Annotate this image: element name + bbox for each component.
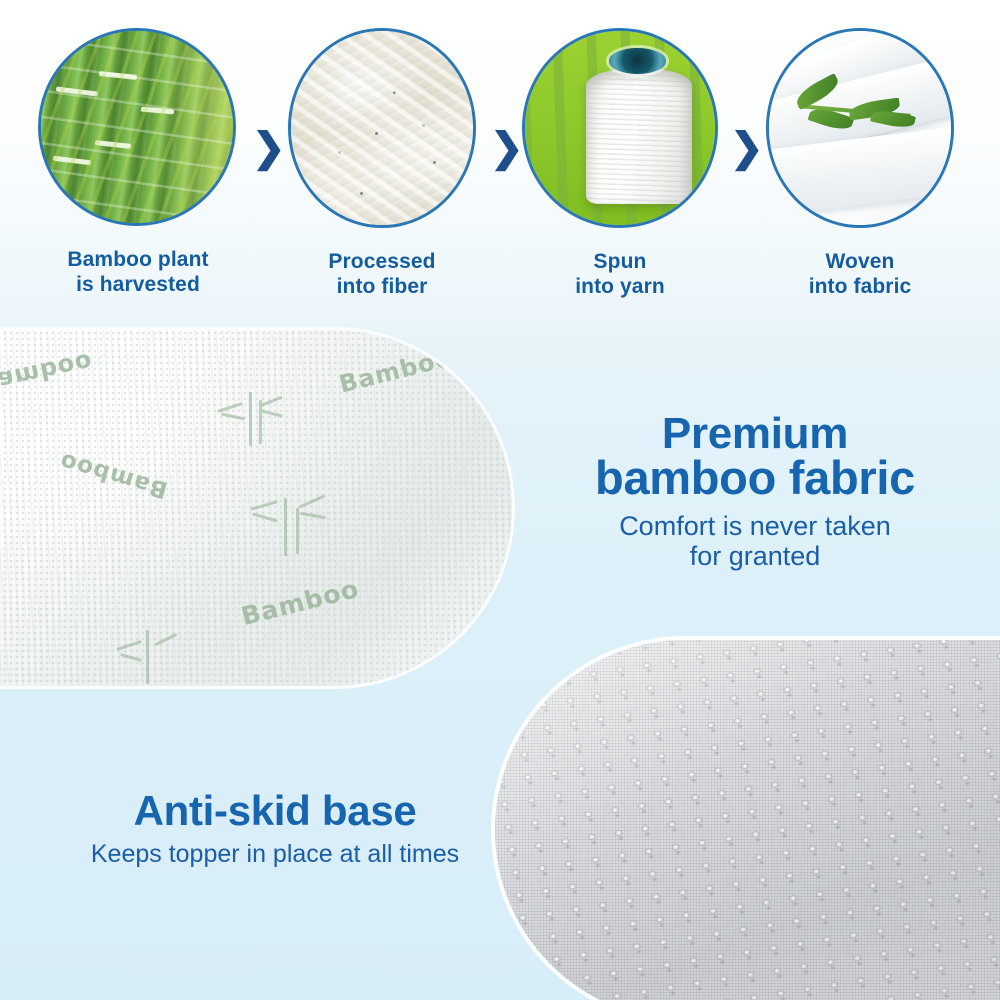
process-step-3: Spun into yarn [520,28,720,300]
premium-subtitle-line1: Comfort is never taken [619,511,891,541]
step-4-line2: into fabric [809,275,912,298]
fabric-bamboo-motif [248,490,334,562]
bamboo-process-strip: Bamboo plant is harvested ❯ Processed in… [0,0,1000,330]
step-3-line2: into yarn [575,275,665,298]
infographic-canvas: Bamboo plant is harvested ❯ Processed in… [0,0,1000,1000]
chevron-right-icon-3: ❯ [730,128,756,168]
woven-fabric-icon [766,28,954,228]
woven-fabric-image [769,31,951,225]
yarn-cone-core [609,48,666,73]
process-step-2-label: Processed into fiber [282,250,482,300]
step-1-line2: is harvested [76,273,200,296]
bamboo-grove-icon [38,28,236,226]
premium-title-line2: bamboo fabric [545,455,965,501]
bamboo-grove-image [41,31,233,223]
step-1-line1: Bamboo plant [67,248,208,271]
premium-title: Premium bamboo fabric [545,412,965,501]
yarn-cone [586,68,692,204]
step-2-line2: into fiber [337,275,428,298]
bamboo-fiber-image [291,31,473,225]
anti-skid-title: Anti-skid base [40,790,510,832]
process-step-4: Woven into fabric [760,28,960,300]
process-step-2: Processed into fiber [282,28,482,300]
anti-skid-copy: Anti-skid base Keeps topper in place at … [40,790,510,869]
process-step-4-label: Woven into fabric [760,250,960,300]
yarn-spool-icon [522,28,718,228]
step-2-line1: Processed [328,250,435,273]
process-step-1-label: Bamboo plant is harvested [38,248,238,298]
bamboo-fiber-icon [288,28,476,228]
yarn-spool-image [525,31,715,225]
chevron-right-icon-1: ❯ [252,128,278,168]
anti-skid-base-swatch [495,640,1000,1000]
process-step-3-label: Spun into yarn [520,250,720,300]
fabric-bamboo-motif [215,386,285,452]
premium-subtitle-line2: for granted [690,541,821,571]
step-4-line1: Woven [826,250,895,273]
process-step-1: Bamboo plant is harvested [38,28,238,298]
skid-shading [495,640,1000,1000]
chevron-right-icon-2: ❯ [490,128,516,168]
step-3-line1: Spun [594,250,647,273]
premium-subtitle: Comfort is never taken for granted [545,511,965,571]
bamboo-fabric-swatch: Bamboo Bamboo Bamboo Bamboo [0,330,512,686]
fabric-bamboo-motif [112,626,188,686]
premium-bamboo-copy: Premium bamboo fabric Comfort is never t… [545,412,965,572]
anti-skid-subtitle: Keeps topper in place at all times [40,840,510,869]
